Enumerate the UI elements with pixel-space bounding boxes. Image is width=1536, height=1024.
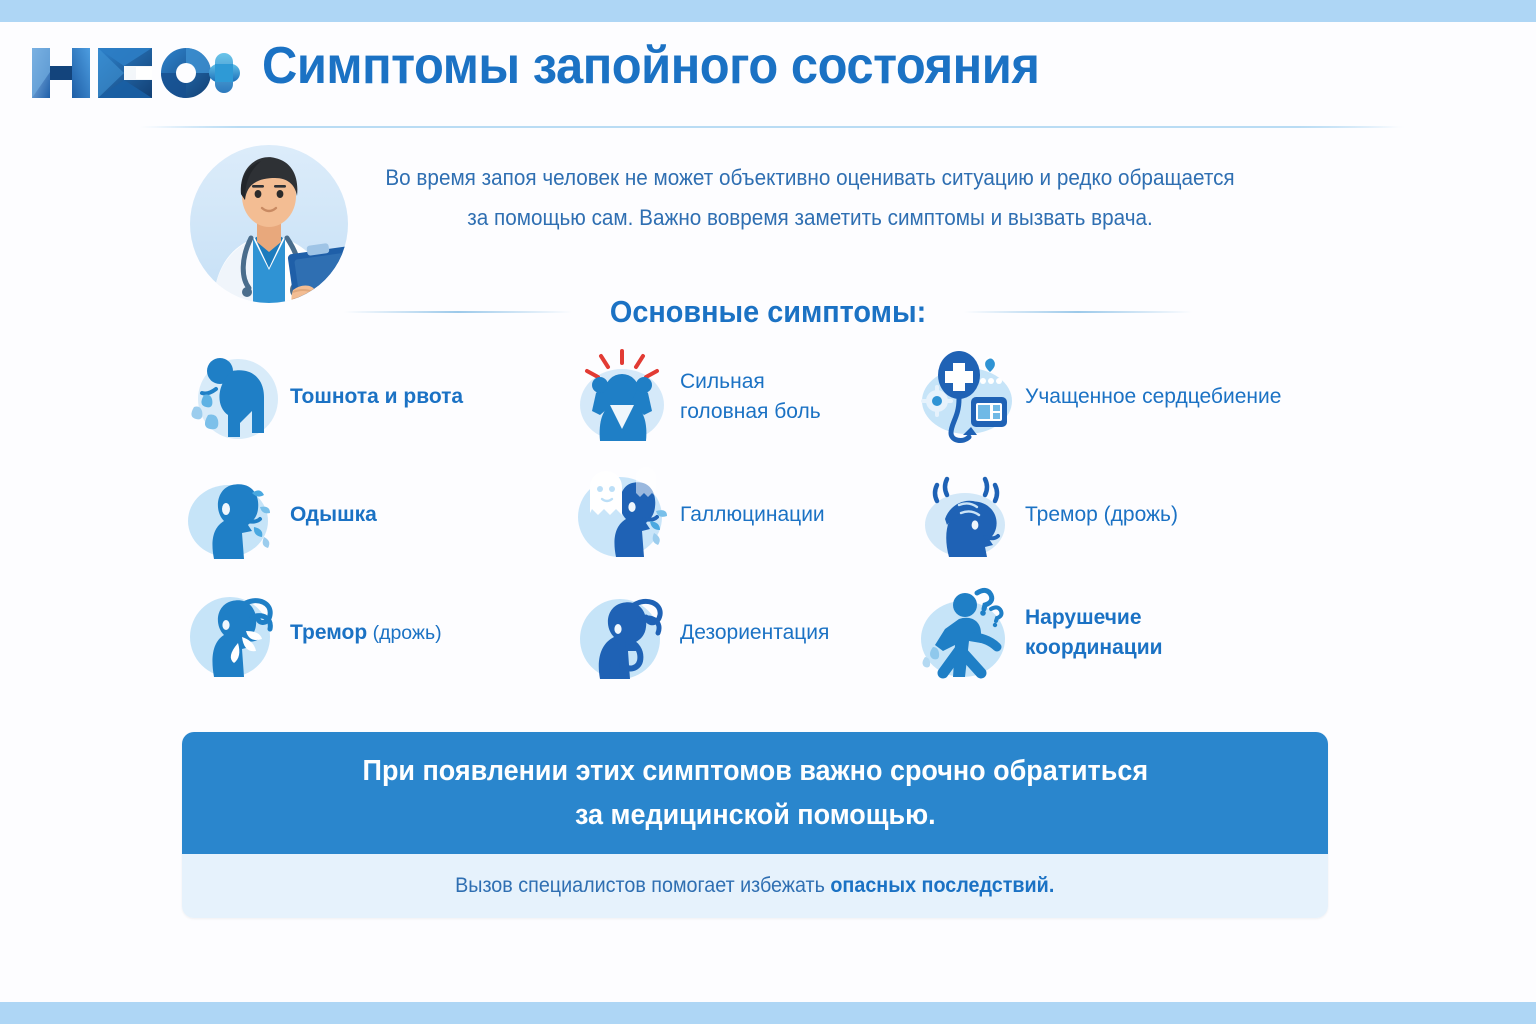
- symptom-label-line1: Нарушечие: [1025, 603, 1163, 633]
- symptom-label-main: Тремор: [290, 621, 367, 644]
- callout-sub-text: Вызов специалистов помогает избежать опа…: [455, 874, 1054, 898]
- callout-sub-prefix: Вызов специалистов помогает избежать: [455, 874, 830, 897]
- callout-sub-emphasis: опасных последствий.: [831, 874, 1055, 897]
- intro-divider: [140, 126, 1398, 128]
- shortness-of-breath-icon: [180, 463, 284, 567]
- symptom-label: Нарушечие координации: [1025, 603, 1163, 663]
- section-rule-right: [964, 311, 1192, 313]
- coordination-loss-icon: [915, 581, 1019, 685]
- symptoms-grid: Тошнота и рвота: [180, 345, 1370, 699]
- intro-line-1: Во время запоя человек не может объектив…: [359, 158, 1261, 198]
- symptom-row: Одышка: [180, 463, 1370, 581]
- symptom-row: Тошнота и рвота: [180, 345, 1370, 463]
- section-title: Основные симптомы:: [610, 294, 926, 330]
- symptom-label-line2: координации: [1025, 633, 1163, 663]
- intro-section: Во время запоя человек не может объектив…: [0, 136, 1536, 266]
- symptom-row: Тремор (дрожь) Дезориентация: [180, 581, 1370, 699]
- top-decor-band: [0, 0, 1536, 22]
- callout-main-line1: При появлении этих симптомов важно срочн…: [362, 755, 1148, 787]
- bottom-decor-band: [0, 1002, 1536, 1024]
- headache-person-icon: [570, 345, 674, 449]
- section-rule-left: [344, 311, 572, 313]
- doctor-avatar-icon: [183, 138, 355, 310]
- disorientation-icon: [570, 581, 674, 685]
- callout-main-line2: за медицинской помощью.: [575, 799, 936, 831]
- hallucination-ghost-icon: [570, 463, 674, 567]
- symptom-label: Тремор (дрожь): [290, 620, 442, 646]
- symptom-item-coordination: Нарушечие координации: [915, 581, 1355, 685]
- head-shaking-tremor-icon: [915, 463, 1019, 567]
- symptom-item-tremor-head: Тремор (дрожь): [915, 463, 1355, 567]
- page-title: Симптомы запойного состояния: [262, 36, 1039, 96]
- sweating-tremor-icon: [180, 581, 284, 685]
- blood-pressure-monitor-icon: [915, 345, 1019, 449]
- symptoms-section-header: Основные симптомы:: [0, 287, 1536, 337]
- neo-plus-logo: [28, 42, 240, 104]
- vomiting-person-icon: [180, 345, 284, 449]
- callout-main-text: При появлении этих симптомов важно срочн…: [362, 749, 1148, 837]
- symptom-item-hallucinations: Галлюцинации: [570, 463, 915, 567]
- symptom-label-line1: Сильная: [680, 367, 821, 397]
- symptom-label: Тремор (дрожь): [1025, 502, 1178, 528]
- call-to-action-box: При появлении этих симптомов важно срочн…: [182, 732, 1328, 918]
- symptom-item-tachycardia: Учащенное сердцебиение: [915, 345, 1355, 449]
- symptom-label-line2: головная боль: [680, 397, 821, 427]
- symptom-label-suffix: (дрожь): [367, 622, 441, 644]
- infographic-page: Симптомы запойного состояния: [0, 0, 1536, 1024]
- symptom-label: Учащенное сердцебиение: [1025, 384, 1281, 410]
- page-header: Симптомы запойного состояния: [0, 34, 1536, 120]
- callout-primary: При появлении этих симптомов важно срочн…: [182, 732, 1328, 854]
- symptom-item-headache: Сильная головная боль: [570, 345, 915, 449]
- symptom-label: Тошнота и рвота: [290, 384, 463, 410]
- symptom-label: Одышка: [290, 502, 377, 528]
- symptom-item-nausea: Тошнота и рвота: [180, 345, 570, 449]
- intro-paragraph: Во время запоя человек не может объектив…: [359, 158, 1261, 238]
- symptom-label: Галлюцинации: [680, 502, 825, 528]
- intro-line-2: за помощью сам. Важно вовремя заметить с…: [359, 198, 1261, 238]
- symptom-label: Дезориентация: [680, 620, 829, 646]
- callout-secondary: Вызов специалистов помогает избежать опа…: [182, 854, 1328, 918]
- symptom-item-dyspnea: Одышка: [180, 463, 570, 567]
- symptom-label: Сильная головная боль: [680, 367, 821, 427]
- symptom-item-tremor-sweat: Тремор (дрожь): [180, 581, 570, 685]
- symptom-item-disorientation: Дезориентация: [570, 581, 915, 685]
